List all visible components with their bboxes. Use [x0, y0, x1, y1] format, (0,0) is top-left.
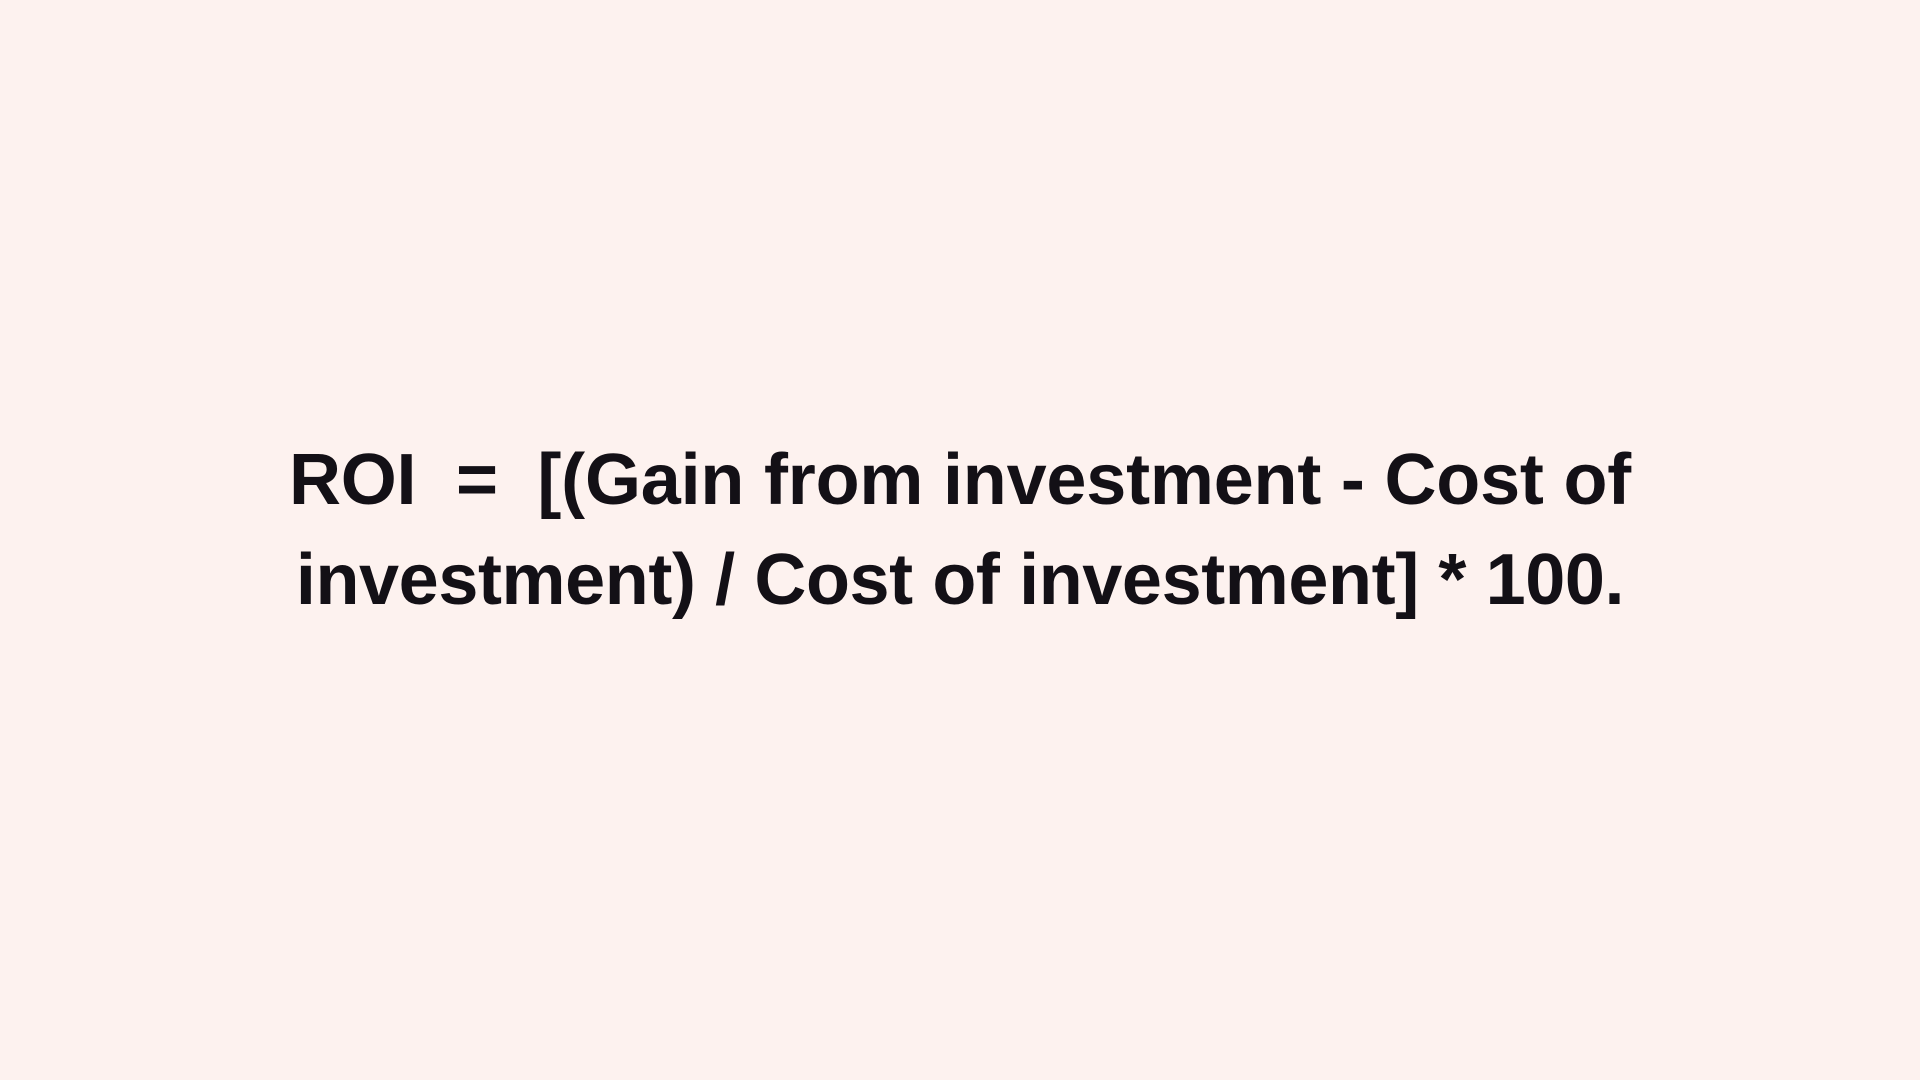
formula-line-2: investment) / Cost of investment] * 100.: [180, 530, 1740, 630]
formula-line-1: ROI = [(Gain from investment - Cost of: [180, 430, 1740, 530]
slide-canvas: ROI = [(Gain from investment - Cost of i…: [0, 0, 1920, 1080]
formula-text-block: ROI = [(Gain from investment - Cost of i…: [0, 430, 1920, 630]
